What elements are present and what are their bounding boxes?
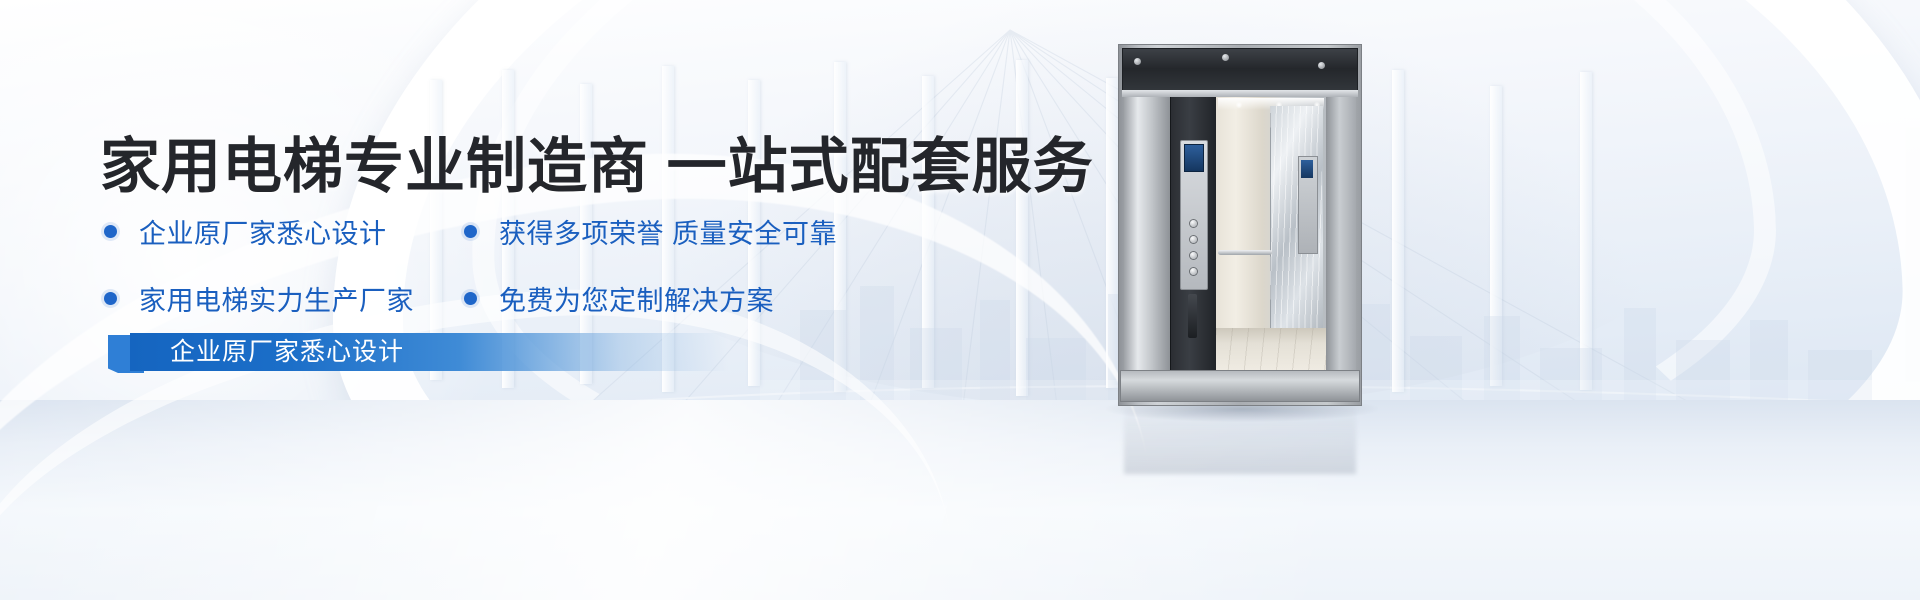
bullet-dot-icon [104, 225, 117, 238]
screw-icon [1318, 62, 1325, 69]
ribbon-label: 企业原厂家悉心设计 [170, 333, 404, 371]
bullet-dot-icon [464, 292, 477, 305]
banner-content: 家用电梯专业制造商 一站式配套服务 企业原厂家悉心设计 获得多项荣誉 质量安全可… [0, 0, 1120, 600]
feature-label: 获得多项荣誉 质量安全可靠 [499, 212, 837, 251]
elevator-header-edge [1122, 90, 1358, 97]
floor-button [1190, 268, 1197, 275]
home-elevator-image [1118, 44, 1362, 406]
bullet-dot-icon [104, 292, 117, 305]
page-title: 家用电梯专业制造商 一站式配套服务 [100, 118, 1094, 205]
elevator-base-sill [1120, 370, 1360, 402]
feature-label: 免费为您定制解决方案 [499, 279, 774, 318]
elevator-right-jamb [1326, 97, 1356, 372]
feature-label: 企业原厂家悉心设计 [139, 212, 387, 251]
feature-item-3: 家用电梯实力生产厂家 [104, 279, 464, 318]
elevator-top-cap [1122, 48, 1358, 94]
feature-label: 家用电梯实力生产厂家 [139, 279, 414, 318]
feature-row: 企业原厂家悉心设计 获得多项荣誉 质量安全可靠 [104, 212, 964, 251]
ceiling-spot-icon [1236, 102, 1242, 108]
floor-button [1190, 252, 1197, 259]
screw-icon [1222, 54, 1229, 61]
feature-item-1: 企业原厂家悉心设计 [104, 212, 464, 251]
screw-icon [1134, 58, 1141, 65]
cabin-floor-tiles [1216, 328, 1326, 372]
feature-item-4: 免费为您定制解决方案 [464, 279, 774, 318]
door-edge-sensor [1188, 294, 1197, 338]
floor-indicator-display [1184, 144, 1204, 172]
elevator-reflection [1124, 404, 1356, 474]
promo-banner: 家用电梯专业制造商 一站式配套服务 企业原厂家悉心设计 获得多项荣誉 质量安全可… [0, 0, 1920, 600]
feature-list: 企业原厂家悉心设计 获得多项荣誉 质量安全可靠 家用电梯实力生产厂家 免费为您定… [104, 212, 964, 346]
elevator-left-jamb [1124, 97, 1170, 372]
floor-button [1190, 220, 1197, 227]
cabin-handrail [1218, 250, 1272, 255]
feature-item-2: 获得多项荣誉 质量安全可靠 [464, 212, 837, 251]
bullet-dot-icon [464, 225, 477, 238]
cabin-floor-display [1301, 160, 1313, 178]
floor-button [1190, 236, 1197, 243]
feature-row: 家用电梯实力生产厂家 免费为您定制解决方案 [104, 279, 964, 318]
highlight-ribbon: 企业原厂家悉心设计 [108, 333, 728, 375]
